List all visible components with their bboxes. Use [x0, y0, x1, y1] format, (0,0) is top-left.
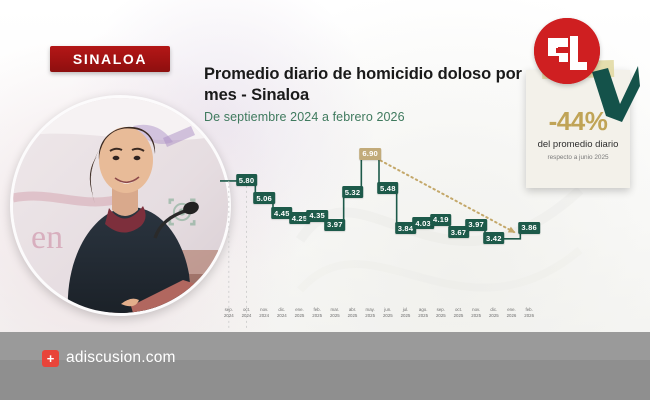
brand-name: adiscusion.com: [66, 349, 176, 367]
chart-value-label: 5.06: [253, 192, 275, 204]
x-axis-tick-label: jul.2025: [401, 307, 411, 318]
x-axis-tick-label: nov.2025: [471, 307, 481, 318]
chart-value-label: 4.19: [430, 214, 452, 226]
chart-value-label: 6.90: [359, 148, 381, 160]
x-axis-tick-label: dic.2024: [277, 307, 287, 318]
chart-value-label: 3.97: [324, 219, 346, 231]
svg-text:en: en: [31, 219, 63, 256]
chart-value-label: 3.86: [518, 222, 540, 234]
x-axis-tick-label: dic.2025: [489, 307, 499, 318]
x-axis-tick-label: ene.2025: [295, 307, 305, 318]
page-subtitle: De septiembre 2024 a febrero 2026: [204, 110, 504, 124]
x-axis-tick-label: oct.2024: [242, 307, 252, 318]
downward-trend-arrow-head: [508, 227, 517, 236]
x-axis-tick-label: oct.2025: [454, 307, 464, 318]
broadcast-graphic: SINALOA en: [0, 0, 650, 400]
x-axis-tick-label: feb.2025: [312, 307, 322, 318]
x-axis-tick-label: nov.2024: [259, 307, 269, 318]
state-badge-label: SINALOA: [73, 51, 147, 67]
x-axis-tick-label: feb.2026: [524, 307, 534, 318]
x-axis-tick-label: jun.2025: [383, 307, 393, 318]
x-axis-tick-label: sep.2024: [224, 307, 234, 318]
plus-icon: +: [42, 350, 59, 367]
adiscusion-logo-icon: [534, 18, 600, 84]
chart-value-label: 5.48: [377, 182, 399, 194]
chart-value-label: 5.32: [342, 186, 364, 198]
x-axis-tick-label: sep.2025: [436, 307, 446, 318]
x-axis-tick-label: ene.2026: [507, 307, 517, 318]
brand-watermark: + adiscusion.com: [42, 349, 176, 367]
x-axis-tick-label: abr.2025: [348, 307, 358, 318]
page-title: Promedio diario de homicidio doloso por …: [204, 64, 534, 105]
x-axis-tick-label: mar.2025: [330, 307, 340, 318]
x-axis-tick-label: may.2025: [365, 307, 375, 318]
chart-value-label: 3.97: [465, 219, 487, 231]
promo-card: -44% del promedio diario respecto a juni…: [522, 18, 640, 190]
chart-x-axis: sep.2024oct.2024nov.2024dic.2024ene.2025…: [196, 305, 556, 329]
chart-value-label: 5.80: [236, 174, 258, 186]
promo-line1: del promedio diario: [526, 139, 630, 150]
chart-value-label: 3.42: [483, 232, 505, 244]
x-axis-tick-label: ago.2025: [418, 307, 428, 318]
promo-line2: respecto a junio 2025: [526, 154, 630, 161]
state-badge: SINALOA: [50, 46, 170, 72]
